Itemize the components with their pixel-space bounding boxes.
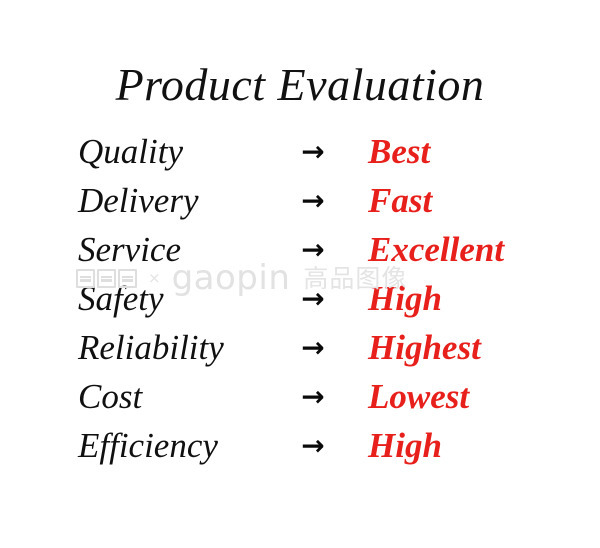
criterion-label: Safety — [78, 278, 164, 320]
arrow-right-icon: → — [285, 376, 341, 418]
list-item: Cost → Lowest — [78, 376, 538, 425]
list-item: Safety → High — [78, 278, 538, 327]
arrow-right-icon: → — [285, 278, 341, 320]
rating-value: Excellent — [368, 229, 504, 271]
list-item: Delivery → Fast — [78, 180, 538, 229]
arrow-right-icon: → — [285, 425, 341, 467]
criterion-label: Quality — [78, 131, 183, 173]
page-title: Product Evaluation — [0, 58, 600, 112]
list-item: Efficiency → High — [78, 425, 538, 474]
arrow-right-icon: → — [285, 131, 341, 173]
rating-value: Best — [368, 131, 430, 173]
rating-value: Fast — [368, 180, 432, 222]
list-item: Service → Excellent — [78, 229, 538, 278]
criterion-label: Cost — [78, 376, 142, 418]
evaluation-list: Quality → Best Delivery → Fast Service →… — [78, 131, 538, 474]
evaluation-diagram: Product Evaluation Quality → Best Delive… — [0, 0, 600, 548]
criterion-label: Delivery — [78, 180, 198, 222]
rating-value: High — [368, 425, 442, 467]
criterion-label: Efficiency — [78, 425, 218, 467]
rating-value: High — [368, 278, 442, 320]
criterion-label: Reliability — [78, 327, 224, 369]
arrow-right-icon: → — [285, 180, 341, 222]
list-item: Reliability → Highest — [78, 327, 538, 376]
rating-value: Highest — [368, 327, 481, 369]
rating-value: Lowest — [368, 376, 469, 418]
arrow-right-icon: → — [285, 327, 341, 369]
criterion-label: Service — [78, 229, 181, 271]
list-item: Quality → Best — [78, 131, 538, 180]
arrow-right-icon: → — [285, 229, 341, 271]
